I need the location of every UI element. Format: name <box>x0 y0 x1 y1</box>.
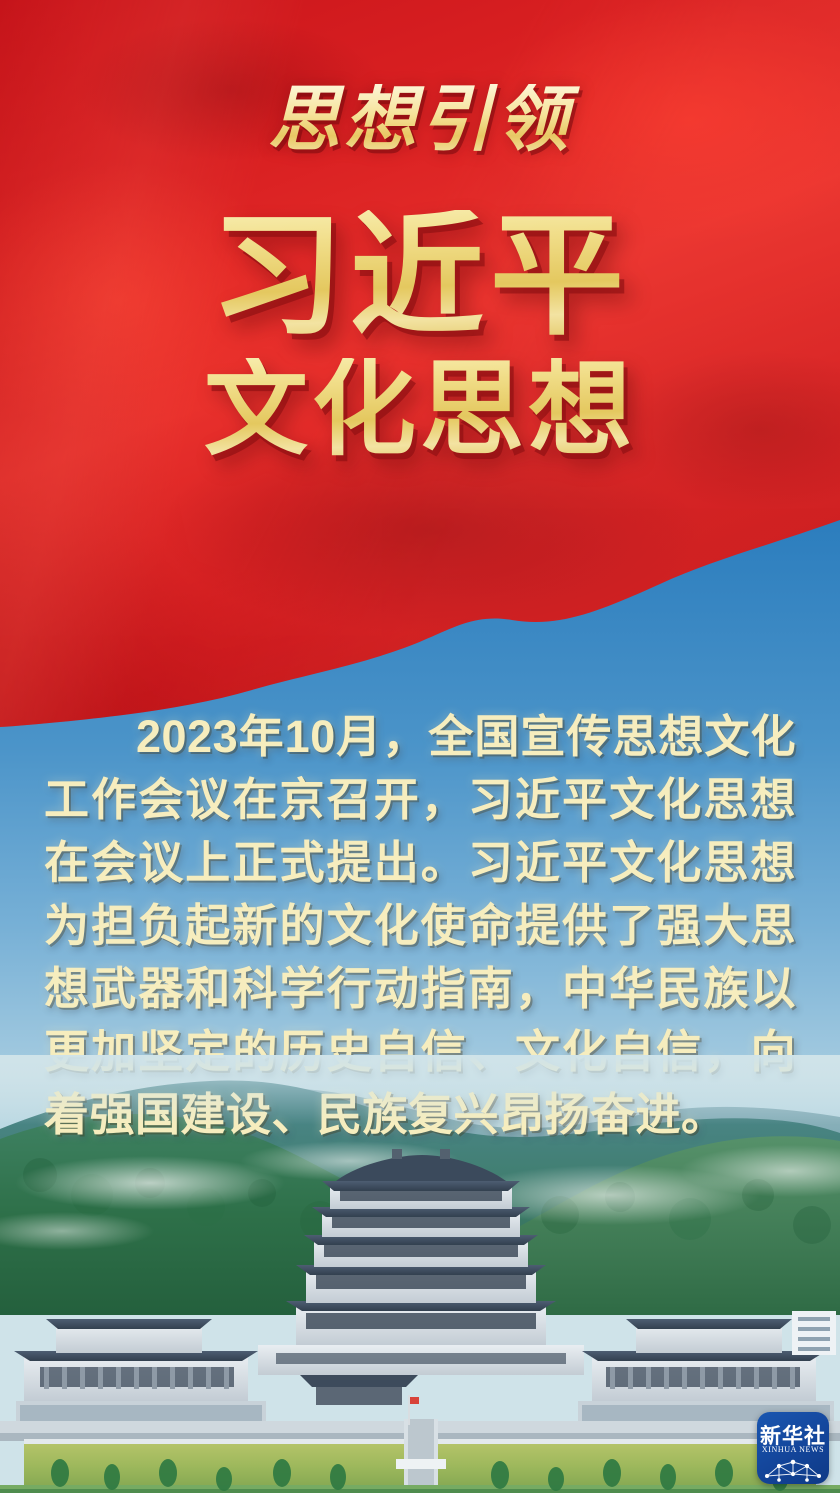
xinhua-news-logo: 新华社 XINHUA NEWS <box>757 1412 829 1484</box>
photo-top-fade <box>0 1055 840 1125</box>
network-graphic-icon <box>757 1454 829 1484</box>
xinhua-logo-en: XINHUA NEWS <box>757 1445 829 1454</box>
page-title: 习近平 <box>0 210 840 344</box>
right-wing-buildings <box>578 1311 836 1423</box>
left-wing-buildings <box>14 1319 266 1423</box>
poster-root: 思想引领 习近平 文化思想 2023年10月，全国宣传思想文化工作会议在京召开，… <box>0 0 840 1493</box>
page-subtitle: 文化思想 <box>0 358 840 462</box>
library-photograph <box>0 1055 840 1493</box>
kicker-heading: 思想引领 <box>0 84 840 156</box>
